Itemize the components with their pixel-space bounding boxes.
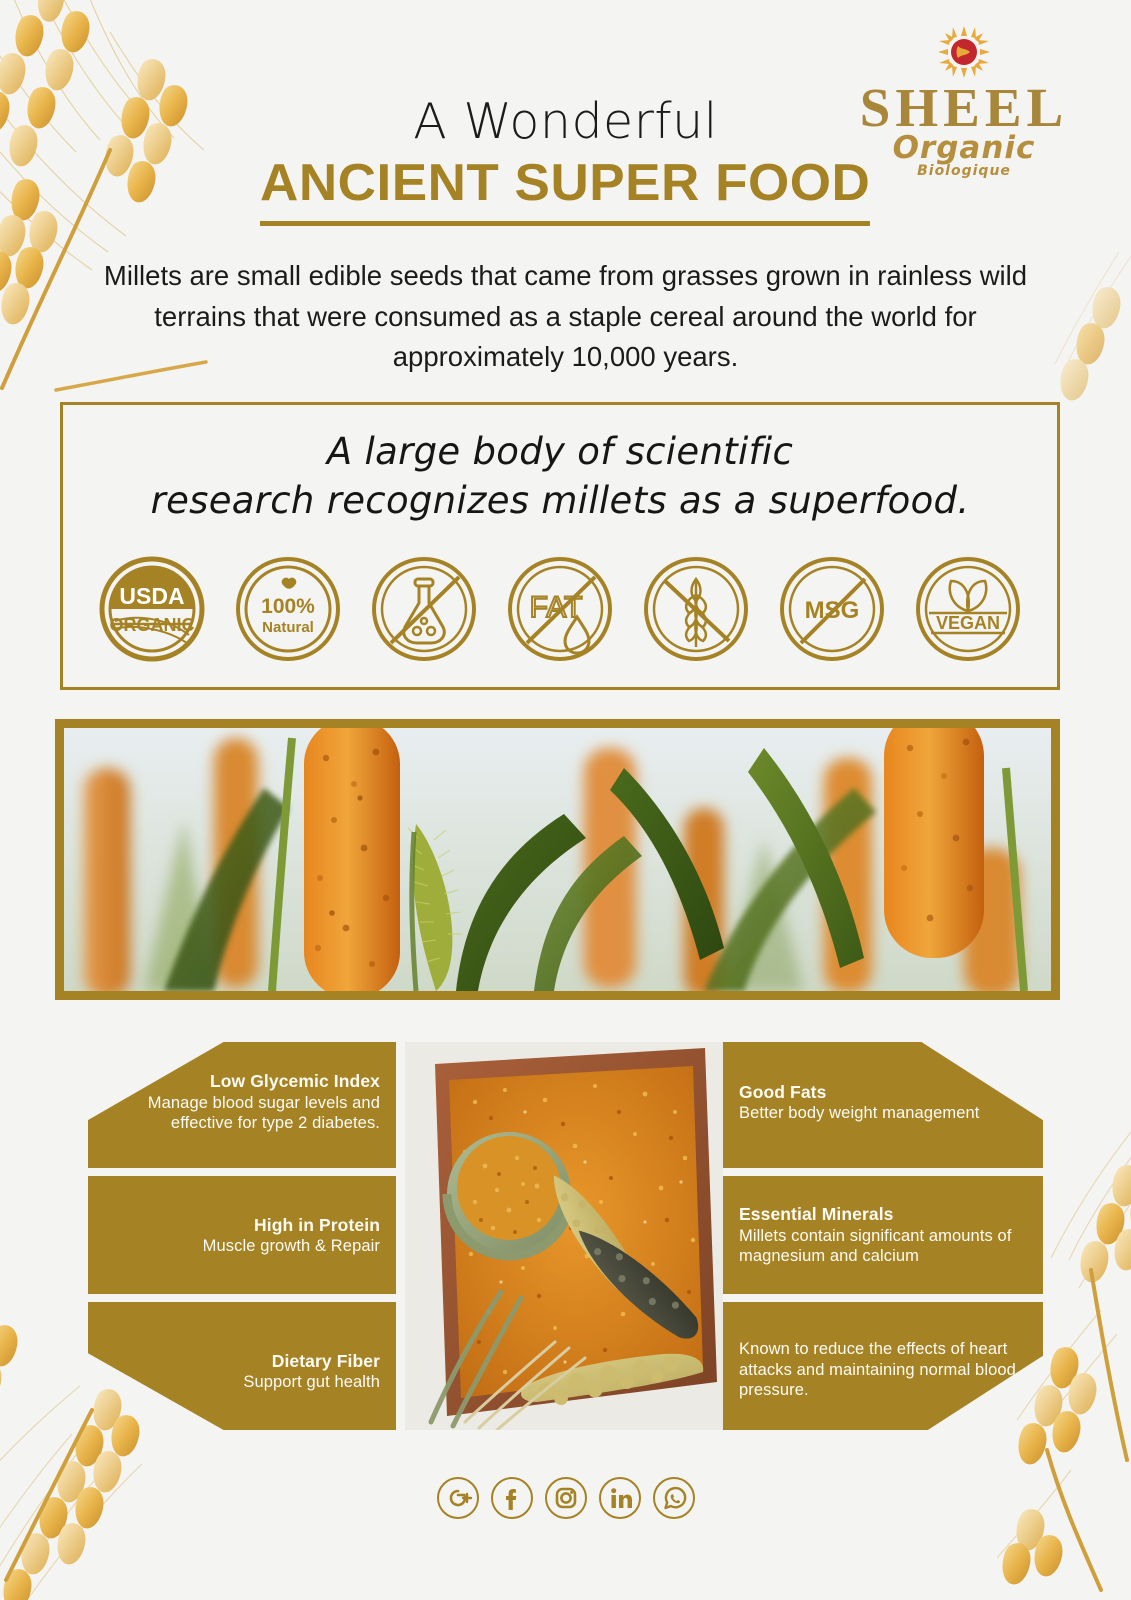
svg-text:VEGAN: VEGAN <box>936 613 1000 633</box>
benefit-title: Low Glycemic Index <box>210 1070 380 1092</box>
benefit-essential-minerals[interactable]: Essential Minerals Millets contain signi… <box>723 1176 1043 1294</box>
usda-organic-badge-icon: USDA ORGANIC <box>91 555 213 663</box>
svg-text:USDA: USDA <box>119 583 184 609</box>
leaf-natural-badge-icon: 100% Natural <box>227 555 349 663</box>
benefit-low-glycemic-index[interactable]: Low Glycemic Index Manage blood sugar le… <box>88 1042 396 1168</box>
no-fat-badge-icon: FAT <box>499 555 621 663</box>
benefit-dietary-fiber[interactable]: Dietary Fiber Support gut health <box>88 1302 396 1430</box>
title-line-2: ANCIENT SUPER FOOD <box>260 153 870 226</box>
vegan-leaf-badge-icon: VEGAN <box>907 555 1029 663</box>
benefits-right-column: Good Fats Better body weight management … <box>723 1042 1043 1430</box>
facebook-icon[interactable] <box>490 1476 534 1520</box>
google-plus-icon[interactable] <box>436 1476 480 1520</box>
benefit-high-in-protein[interactable]: High in Protein Muscle growth & Repair <box>88 1176 396 1294</box>
infographic-page: SHEEL Organic Biologique A Wonderful ANC… <box>0 0 1131 1600</box>
page-title: A Wonderful ANCIENT SUPER FOOD <box>0 96 1131 226</box>
benefit-title: Good Fats <box>739 1081 826 1103</box>
millet-tray-photo <box>405 1042 723 1430</box>
no-chemicals-flask-badge-icon <box>363 555 485 663</box>
gluten-free-wheat-badge-icon <box>635 555 757 663</box>
millet-field-photo-frame <box>55 719 1060 1000</box>
science-statement-line-2: research recognizes millets as a superfo… <box>63 476 1057 525</box>
benefit-heart-health[interactable]: Known to reduce the effects of heart att… <box>723 1302 1043 1430</box>
millet-field-photo <box>64 728 1051 991</box>
wheat-decoration-top-right <box>1021 250 1131 410</box>
benefit-title: High in Protein <box>254 1214 380 1236</box>
no-msg-badge-icon: MSG <box>771 555 893 663</box>
svg-text:100%: 100% <box>261 595 315 618</box>
benefit-title: Essential Minerals <box>739 1203 894 1225</box>
linkedin-icon[interactable] <box>598 1476 642 1520</box>
certification-badges: USDA ORGANIC 100% Natural <box>63 555 1057 663</box>
benefit-body: Manage blood sugar levels and effective … <box>104 1093 380 1134</box>
title-line-1: A Wonderful <box>0 96 1131 147</box>
instagram-icon[interactable] <box>544 1476 588 1520</box>
benefit-good-fats[interactable]: Good Fats Better body weight management <box>723 1042 1043 1168</box>
social-links <box>0 1476 1131 1520</box>
svg-text:Natural: Natural <box>262 619 314 636</box>
benefit-body: Millets contain significant amounts of m… <box>739 1226 1027 1267</box>
benefit-body: Known to reduce the effects of heart att… <box>739 1339 1027 1400</box>
benefit-body: Support gut health <box>243 1372 380 1392</box>
science-statement-line-1: A large body of scientific <box>63 427 1057 476</box>
benefit-body: Better body weight management <box>739 1103 979 1123</box>
benefits-left-column: Low Glycemic Index Manage blood sugar le… <box>88 1042 396 1430</box>
whatsapp-icon[interactable] <box>652 1476 696 1520</box>
benefit-body: Muscle growth & Repair <box>203 1236 380 1256</box>
sun-icon <box>936 24 992 80</box>
science-statement-box: A large body of scientific research reco… <box>60 402 1060 690</box>
intro-paragraph: Millets are small edible seeds that came… <box>100 256 1031 378</box>
benefit-title: Dietary Fiber <box>272 1350 380 1372</box>
